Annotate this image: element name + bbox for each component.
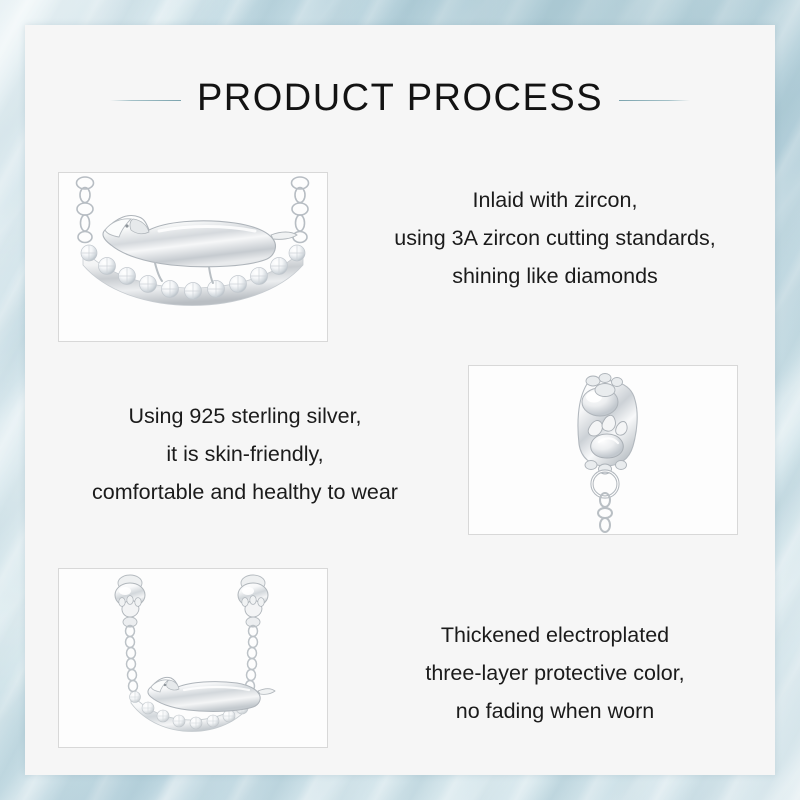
caption-line: Using 925 sterling silver,: [45, 397, 445, 435]
caption-zircon: Inlaid with zircon, using 3A zircon cutt…: [355, 181, 755, 295]
caption-plating: Thickened electroplated three-layer prot…: [355, 616, 755, 730]
product-photo-necklace: [58, 568, 328, 748]
page-title-block: PRODUCT PROCESS: [25, 68, 775, 128]
title-rule-right: [619, 100, 690, 101]
paw-clasp-bead-illustration: [469, 366, 737, 534]
title-rule-left: [110, 100, 181, 101]
product-photo-clasp: [468, 365, 738, 535]
page-title: PRODUCT PROCESS: [181, 79, 619, 117]
caption-line: using 3A zircon cutting standards,: [355, 219, 755, 257]
caption-line: Inlaid with zircon,: [355, 181, 755, 219]
caption-line: it is skin-friendly,: [45, 435, 445, 473]
product-process-poster: PRODUCT PROCESS: [0, 0, 800, 800]
dachshund-pendant-illustration: [59, 173, 327, 341]
caption-line: shining like diamonds: [355, 257, 755, 295]
caption-line: no fading when worn: [355, 692, 755, 730]
product-photo-zircon: [58, 172, 328, 342]
caption-line: comfortable and healthy to wear: [45, 473, 445, 511]
caption-silver: Using 925 sterling silver, it is skin-fr…: [45, 397, 445, 511]
caption-line: three-layer protective color,: [355, 654, 755, 692]
full-necklace-illustration: [59, 569, 327, 747]
caption-line: Thickened electroplated: [355, 616, 755, 654]
content-panel: PRODUCT PROCESS: [25, 25, 775, 775]
